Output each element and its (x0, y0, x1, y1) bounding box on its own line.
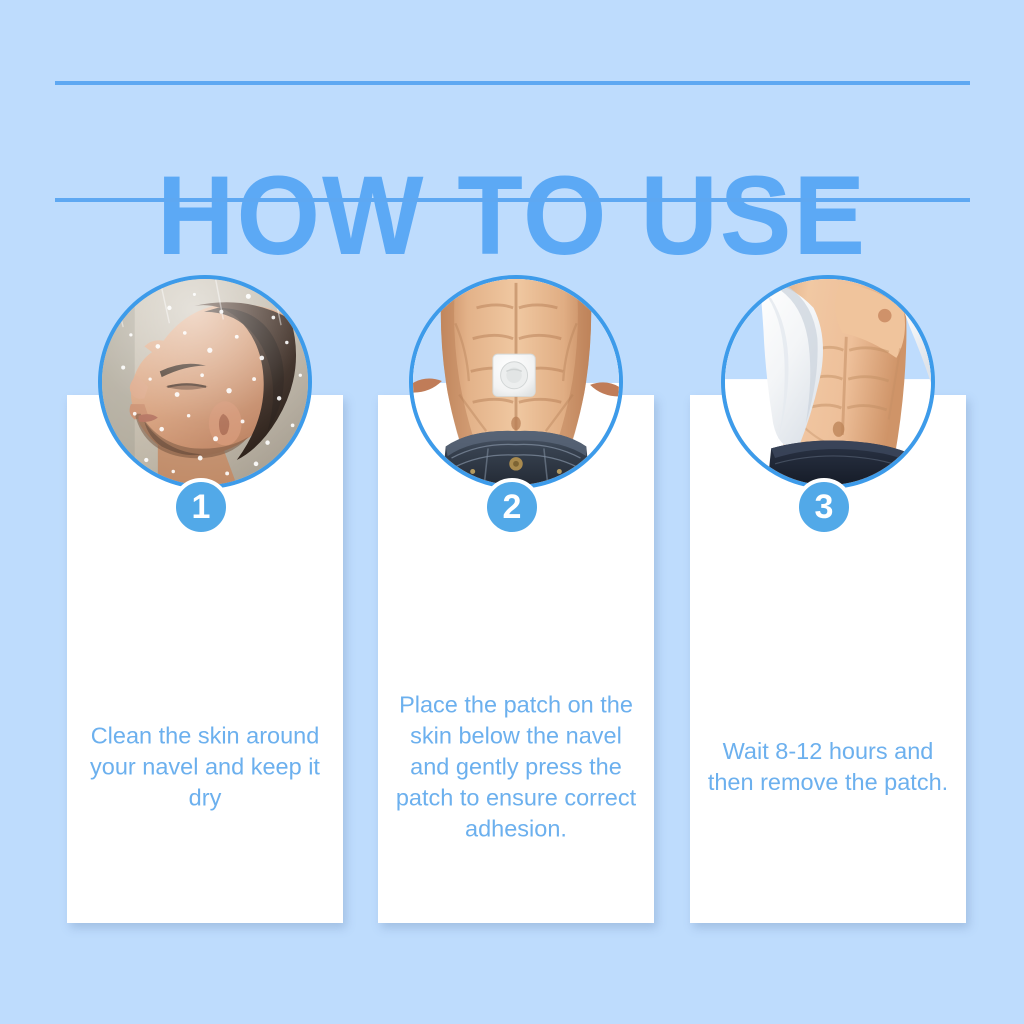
page-title: HOW TO USE (20, 159, 1003, 273)
step-3-number-badge: 3 (795, 478, 853, 536)
title-rule-bottom (55, 198, 970, 202)
step-2-number-badge: 2 (483, 478, 541, 536)
step-1-text: Clean the skin around your navel and kee… (77, 721, 333, 814)
step-3-photo (721, 275, 935, 489)
step-1-photo (98, 275, 312, 489)
step-3-text: Wait 8-12 hours and then remove the patc… (700, 736, 956, 798)
step-2: Place the patch on the skin below the na… (378, 275, 654, 925)
step-2-photo (409, 275, 623, 489)
how-to-use-infographic: HOW TO USE Clean the skin around your na… (0, 0, 1024, 1024)
step-1-number-badge: 1 (172, 478, 230, 536)
step-2-text: Place the patch on the skin below the na… (388, 690, 644, 845)
title-rule-top (55, 81, 970, 85)
step-3: Wait 8-12 hours and then remove the patc… (690, 275, 966, 925)
step-1: Clean the skin around your navel and kee… (67, 275, 343, 925)
